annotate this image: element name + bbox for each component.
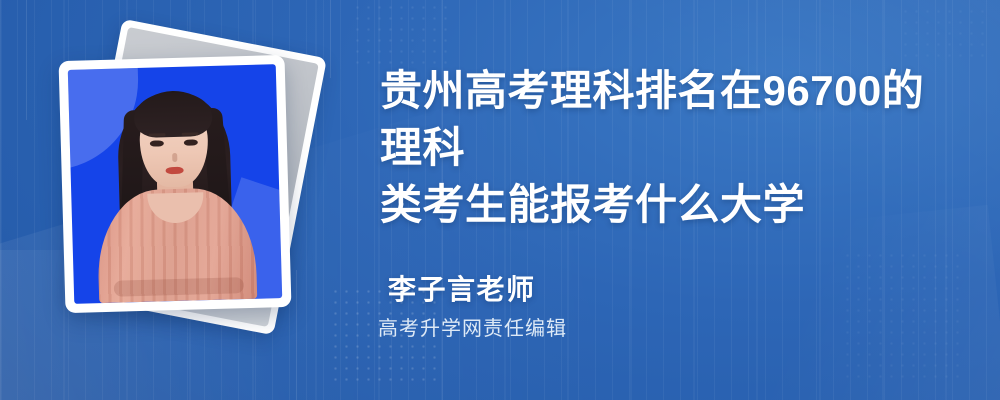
page-title-line-2: 类考生能报考什么大学	[380, 181, 805, 228]
portrait-hair-front	[133, 92, 212, 138]
background-dot-grid-top-right	[900, 6, 990, 64]
portrait-eye-right	[184, 139, 198, 145]
portrait-eye-left	[150, 140, 164, 146]
photo-card-front	[59, 55, 292, 313]
page-title-line-1: 贵州高考理科排名在96700的理科	[380, 67, 924, 171]
photo-card-stack	[48, 28, 348, 373]
portrait-eyebrow-right	[182, 132, 199, 135]
background-dot-grid-top	[352, 2, 448, 66]
author-block: 李子言老师 高考升学网责任编辑	[388, 272, 567, 342]
banner-image: 贵州高考理科排名在96700的理科类考生能报考什么大学 李子言老师 高考升学网责…	[0, 0, 1000, 400]
author-role: 高考升学网责任编辑	[378, 316, 567, 342]
author-name: 李子言老师	[388, 272, 567, 308]
headline-block: 贵州高考理科排名在96700的理科类考生能报考什么大学	[380, 62, 960, 233]
background-hairline-left	[26, 0, 27, 120]
portrait-mouth	[166, 167, 184, 174]
page-title: 贵州高考理科排名在96700的理科类考生能报考什么大学	[380, 62, 960, 233]
portrait-eyebrow-left	[149, 133, 166, 136]
author-photo	[68, 64, 282, 304]
portrait-illustration	[68, 64, 282, 304]
portrait-nose	[172, 153, 177, 162]
background-dot-grid-right	[842, 250, 962, 380]
